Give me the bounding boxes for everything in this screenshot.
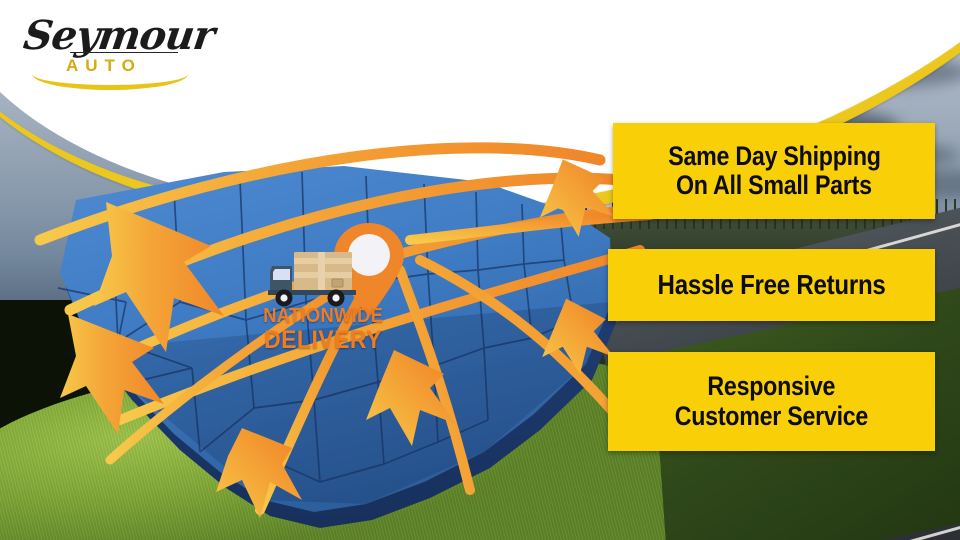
delivery-truck-icon xyxy=(266,248,362,310)
logo-underline-stroke xyxy=(70,52,178,53)
promo-banner-stage: Seymour AUTO xyxy=(0,0,960,540)
nationwide-delivery-label: NATIONWIDE DELIVERY xyxy=(258,306,388,353)
arrowhead-nw xyxy=(94,202,224,352)
arrowhead-w xyxy=(60,314,164,434)
banner-3-line-2: Customer Service xyxy=(675,402,868,431)
banner-1-line-1: Same Day Shipping xyxy=(668,142,880,171)
logo-brand-subtitle: AUTO xyxy=(66,56,142,76)
brand-logo[interactable]: Seymour AUTO xyxy=(18,12,198,94)
banner-1-line-2: On All Small Parts xyxy=(676,171,872,200)
nationwide-delivery-line1: NATIONWIDE xyxy=(263,306,383,326)
arrowhead-e xyxy=(542,299,614,375)
banner-hassle-free-returns[interactable]: Hassle Free Returns xyxy=(608,249,935,321)
logo-swoosh-icon xyxy=(32,74,188,90)
banner-responsive-customer-service[interactable]: Responsive Customer Service xyxy=(608,352,935,451)
banner-same-day-shipping[interactable]: Same Day Shipping On All Small Parts xyxy=(613,123,935,219)
banner-3-line-1: Responsive xyxy=(708,372,836,401)
banner-2-line-1: Hassle Free Returns xyxy=(658,270,886,300)
nationwide-delivery-line2: DELIVERY xyxy=(263,328,383,353)
